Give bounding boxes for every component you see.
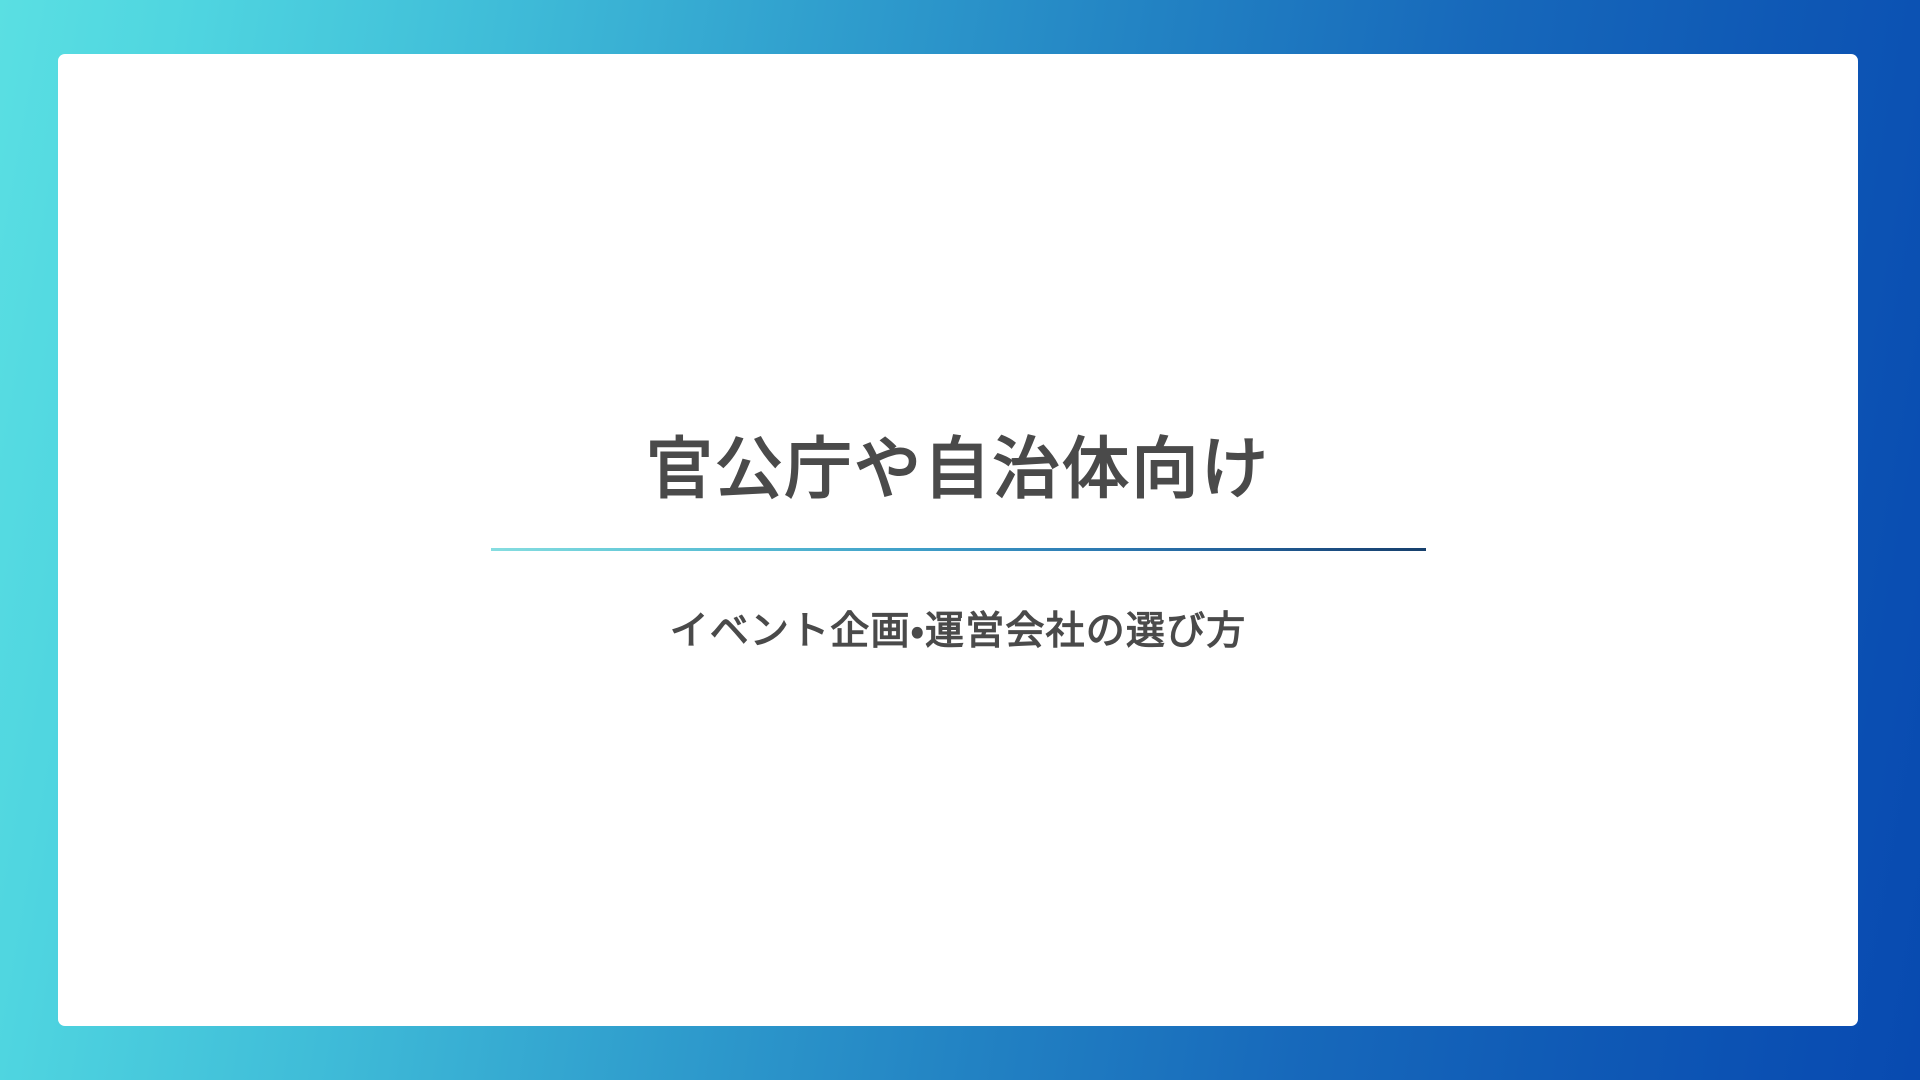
slide-gradient-frame: 官公庁や自治体向け イベント企画・運営会社の選び方 bbox=[0, 0, 1920, 1080]
title-divider bbox=[491, 548, 1426, 551]
page-title: 官公庁や自治体向け bbox=[646, 430, 1270, 509]
slide-content-card: 官公庁や自治体向け イベント企画・運営会社の選び方 bbox=[58, 54, 1858, 1026]
title-block: 官公庁や自治体向け イベント企画・運営会社の選び方 bbox=[491, 430, 1426, 658]
page-subtitle: イベント企画・運営会社の選び方 bbox=[670, 607, 1247, 658]
